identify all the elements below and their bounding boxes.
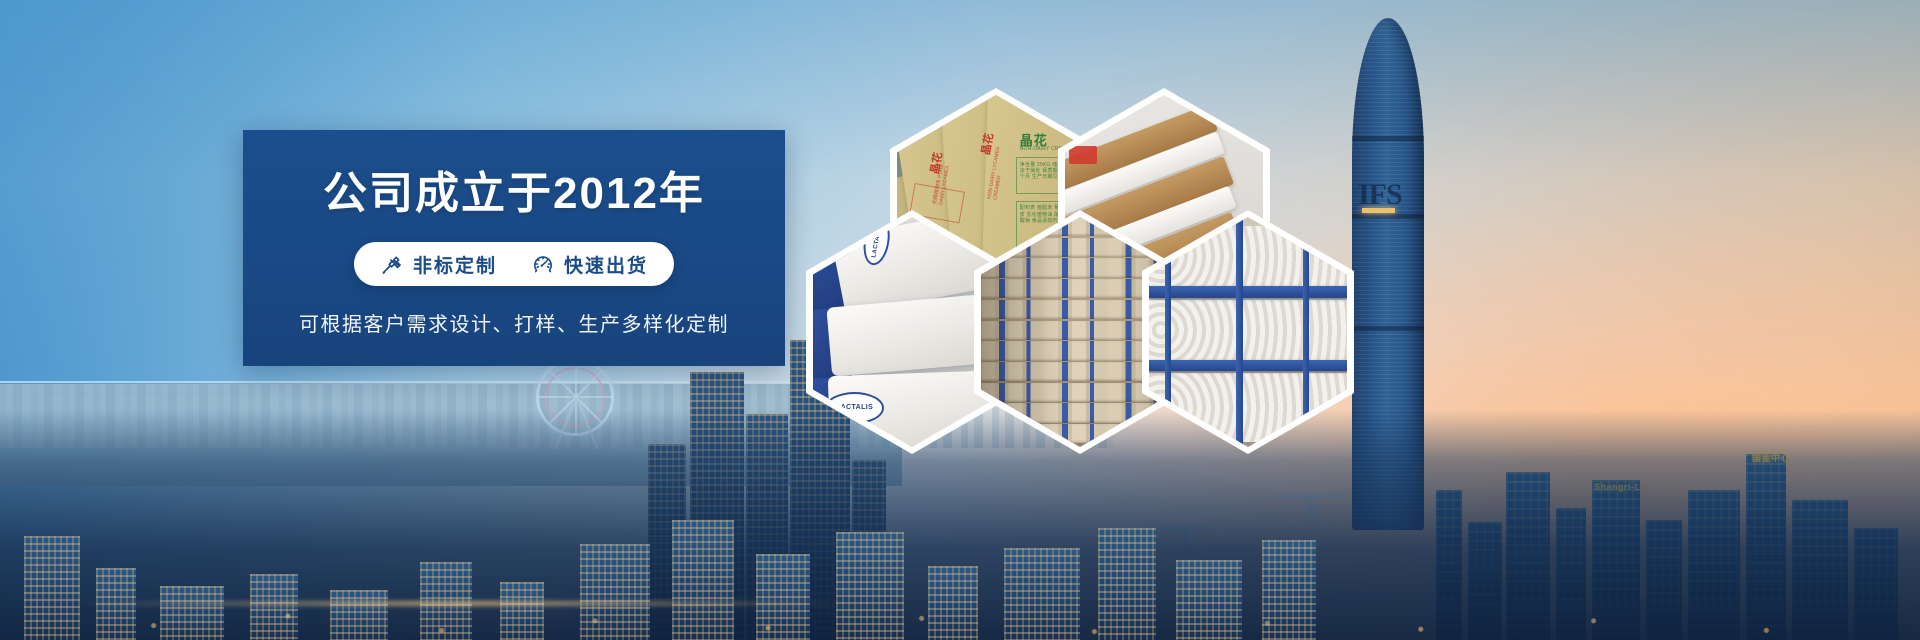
feature-label: 非标定制 — [413, 251, 497, 278]
waterline — [0, 381, 902, 383]
page-title: 公司成立于2012年 — [243, 172, 785, 216]
photo-brand-lactalis: LACTALIS — [825, 392, 884, 424]
hex-photo-gallery: 晶花 奶精植物末 PURE DAIRY LYCAMEA 晶花 NON-DAIRY… — [790, 88, 1350, 448]
promo-subtitle: 可根据客户需求设计、打样、生产多样化定制 — [243, 308, 785, 337]
road-light-streak — [77, 601, 845, 606]
pencil-ruler-icon — [380, 252, 404, 276]
promo-panel: 公司成立于2012年 非标定制 — [243, 130, 785, 366]
feature-custom-manufacturing[interactable]: 非标定制 — [380, 251, 497, 278]
speedometer-icon — [531, 252, 555, 276]
tower-sign: IFS — [1358, 178, 1402, 212]
photo-warehouse-racking — [1149, 217, 1347, 447]
feature-pill-group: 非标定制 快速出货 — [354, 242, 674, 286]
city-lights — [0, 520, 1920, 640]
feature-label: 快速出货 — [564, 251, 648, 278]
hero-banner: IFS Shangri-La 国金中心 — [0, 0, 1920, 640]
feature-fast-shipping[interactable]: 快速出货 — [531, 251, 648, 278]
